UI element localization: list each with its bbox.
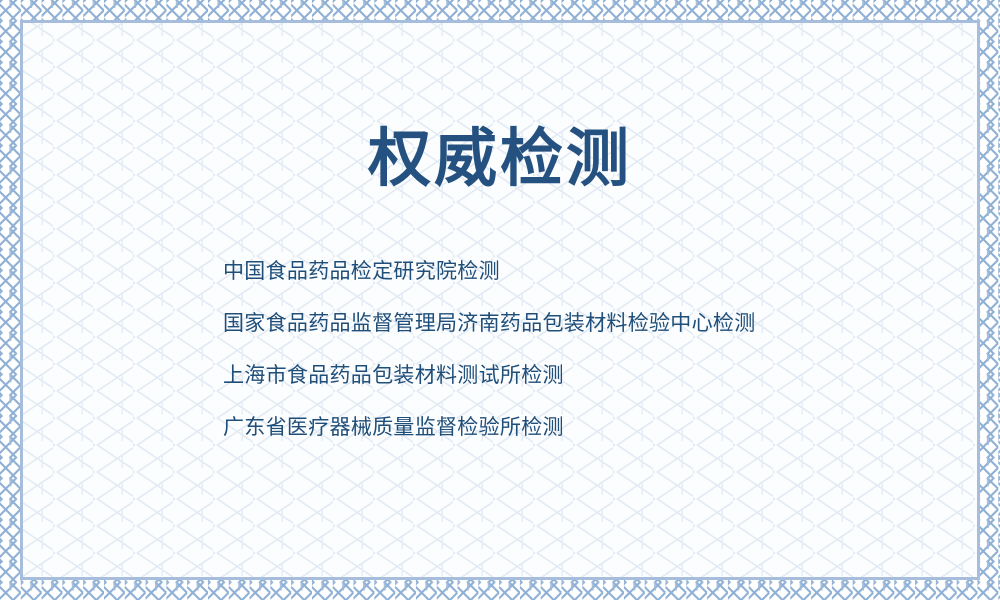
page-title: 权威检测 <box>23 127 977 190</box>
list-item: 中国食品药品检定研究院检测 <box>223 245 943 297</box>
list-item: 广东省医疗器械质量监督检验所检测 <box>223 401 943 453</box>
inner-frame-panel: 权威检测 中国食品药品检定研究院检测 国家食品药品监督管理局济南药品包装材料检验… <box>20 20 980 580</box>
poster-content: 权威检测 中国食品药品检定研究院检测 国家食品药品监督管理局济南药品包装材料检验… <box>23 23 977 577</box>
list-item: 国家食品药品监督管理局济南药品包装材料检验中心检测 <box>223 297 943 349</box>
certification-list: 中国食品药品检定研究院检测 国家食品药品监督管理局济南药品包装材料检验中心检测 … <box>223 245 943 453</box>
certification-poster: 权威检测 中国食品药品检定研究院检测 国家食品药品监督管理局济南药品包装材料检验… <box>0 0 1000 600</box>
list-item: 上海市食品药品包装材料测试所检测 <box>223 349 943 401</box>
